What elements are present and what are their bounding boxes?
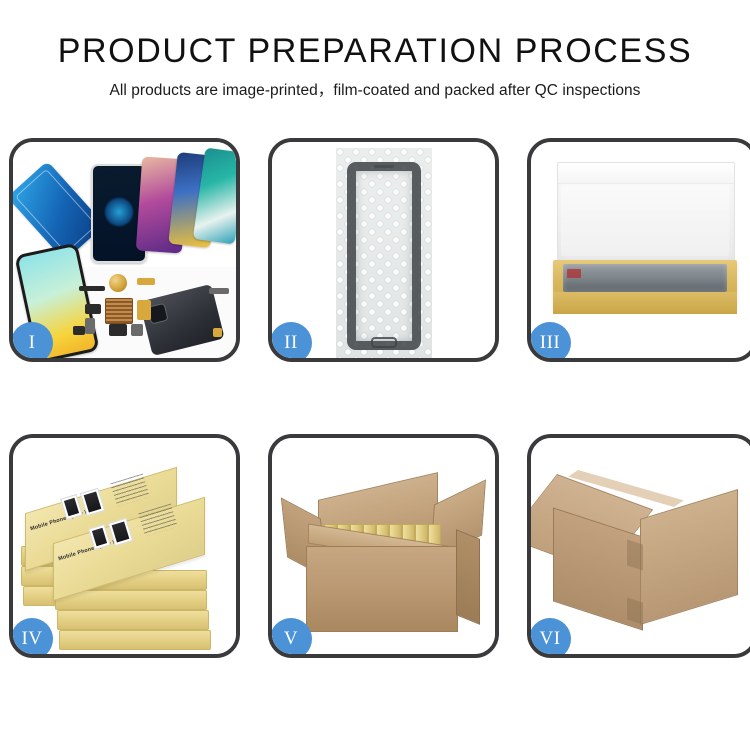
step-panel-3: III Wrapped screen placed in kraft box w…: [527, 138, 750, 362]
small-module-part-icon: [85, 318, 95, 334]
page-header: PRODUCT PREPARATION PROCESS All products…: [0, 0, 750, 102]
step-panel-5: V Retail boxes loaded into shipping cart…: [268, 434, 499, 658]
product-preparation-page: PRODUCT PREPARATION PROCESS All products…: [0, 0, 750, 750]
step-image-3: III: [531, 142, 750, 358]
step-badge-4: IV: [13, 618, 53, 654]
step-badge-6: VI: [531, 618, 571, 654]
step-image-6: VI: [531, 438, 750, 654]
camera-part-icon: [109, 324, 127, 336]
speaker-coin-part-icon: [109, 274, 127, 292]
step-badge-1: I: [13, 322, 53, 358]
step-image-5: V: [272, 438, 495, 654]
step-image-1: I: [13, 142, 236, 358]
wrapped-screen-in-box-icon: [563, 264, 727, 292]
bubble-wrap-icon: [336, 148, 432, 358]
sealed-carton-right-face-icon: [640, 489, 738, 625]
carton-body-icon: [306, 546, 458, 632]
step-image-2: II: [272, 142, 495, 358]
step-image-4: Mobile Phone Spare Parts Mobile Phone Sp…: [13, 438, 236, 654]
kraft-box-front-icon: [553, 292, 737, 314]
process-steps-grid: I Assorted mobile phone screens and spar…: [9, 138, 741, 658]
phone-screen-outline-icon: [347, 162, 421, 350]
carton-seam-icon: [627, 539, 643, 570]
tool-part-icon: [209, 288, 229, 294]
screw-plate-part-icon: [73, 326, 85, 335]
retail-box-stack-icon: Mobile Phone Spare Parts Mobile Phone Sp…: [13, 438, 236, 654]
mesh-chip-part-icon: [105, 298, 133, 324]
step-panel-2: II Screen wrapped in bubble wrap: [268, 138, 499, 362]
step-panel-4: Mobile Phone Spare Parts Mobile Phone Sp…: [9, 434, 240, 658]
stacked-box-edge: [57, 610, 209, 630]
flex-strip-part-icon: [79, 286, 105, 291]
gold-flex-part-icon: [137, 300, 151, 320]
button-part-icon: [85, 304, 101, 314]
step-badge-3: III: [531, 322, 571, 358]
step-panel-1: I Assorted mobile phone screens and spar…: [9, 138, 240, 362]
sensor-part-icon: [131, 324, 143, 336]
step-badge-5: V: [272, 618, 312, 654]
foam-insert-icon: [561, 186, 729, 256]
page-subtitle: All products are image-printed，film-coat…: [0, 80, 750, 102]
step-panel-6: VI Sealed shipping carton ready to ship: [527, 434, 750, 658]
gold-screw-part-icon: [213, 328, 222, 337]
page-title: PRODUCT PREPARATION PROCESS: [0, 30, 750, 72]
phone-backplate-icon: [139, 284, 224, 356]
step-badge-2: II: [272, 322, 312, 358]
stacked-box-edge: [59, 630, 211, 650]
gold-connector-part-icon: [137, 278, 155, 285]
carton-side-panel-icon: [456, 529, 480, 625]
